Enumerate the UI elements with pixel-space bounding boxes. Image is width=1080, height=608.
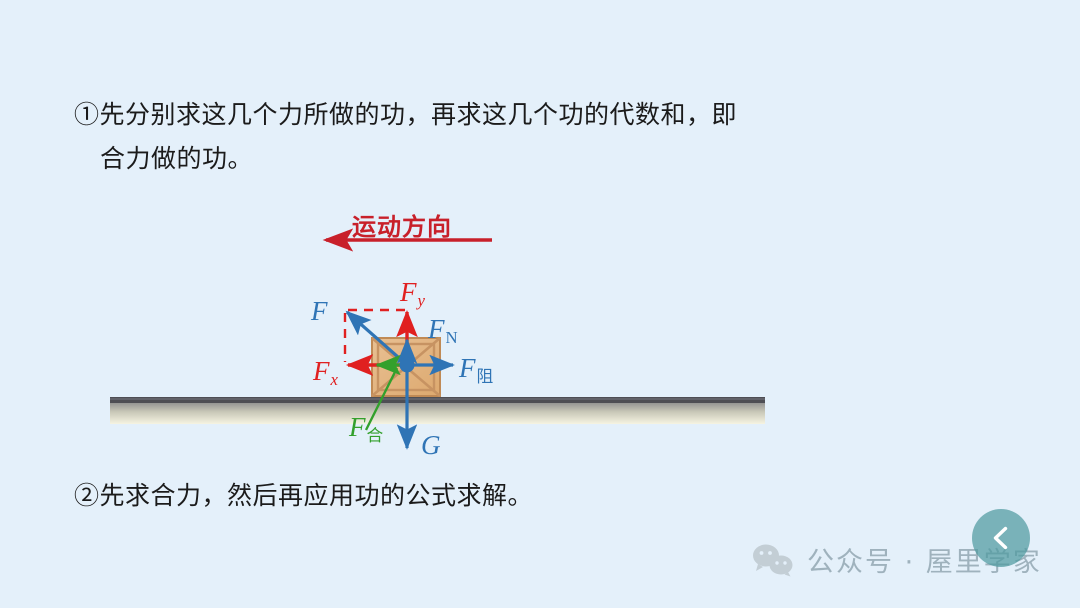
- label-force-Fx: Fx: [313, 358, 338, 388]
- label-force-Fy: Fy: [400, 279, 425, 309]
- label-force-Fzu: F阻: [459, 355, 493, 385]
- slide-canvas: ①先分别求这几个力所做的功，再求这几个功的代数和，即 合力做的功。 ②先求合力，…: [0, 0, 1080, 608]
- ground-gradient: [110, 402, 765, 424]
- ground-surface: [110, 397, 765, 403]
- back-button[interactable]: [972, 509, 1030, 567]
- wechat-icon: [752, 543, 794, 577]
- force-diagram: [0, 0, 1080, 608]
- force-origin-dot: [400, 358, 415, 373]
- label-force-Fhe: F合: [349, 414, 383, 444]
- label-force-FN: FN: [428, 316, 458, 346]
- label-force-G: G: [421, 432, 441, 459]
- label-force-F: F: [311, 298, 328, 325]
- chevron-left-icon: [986, 523, 1016, 553]
